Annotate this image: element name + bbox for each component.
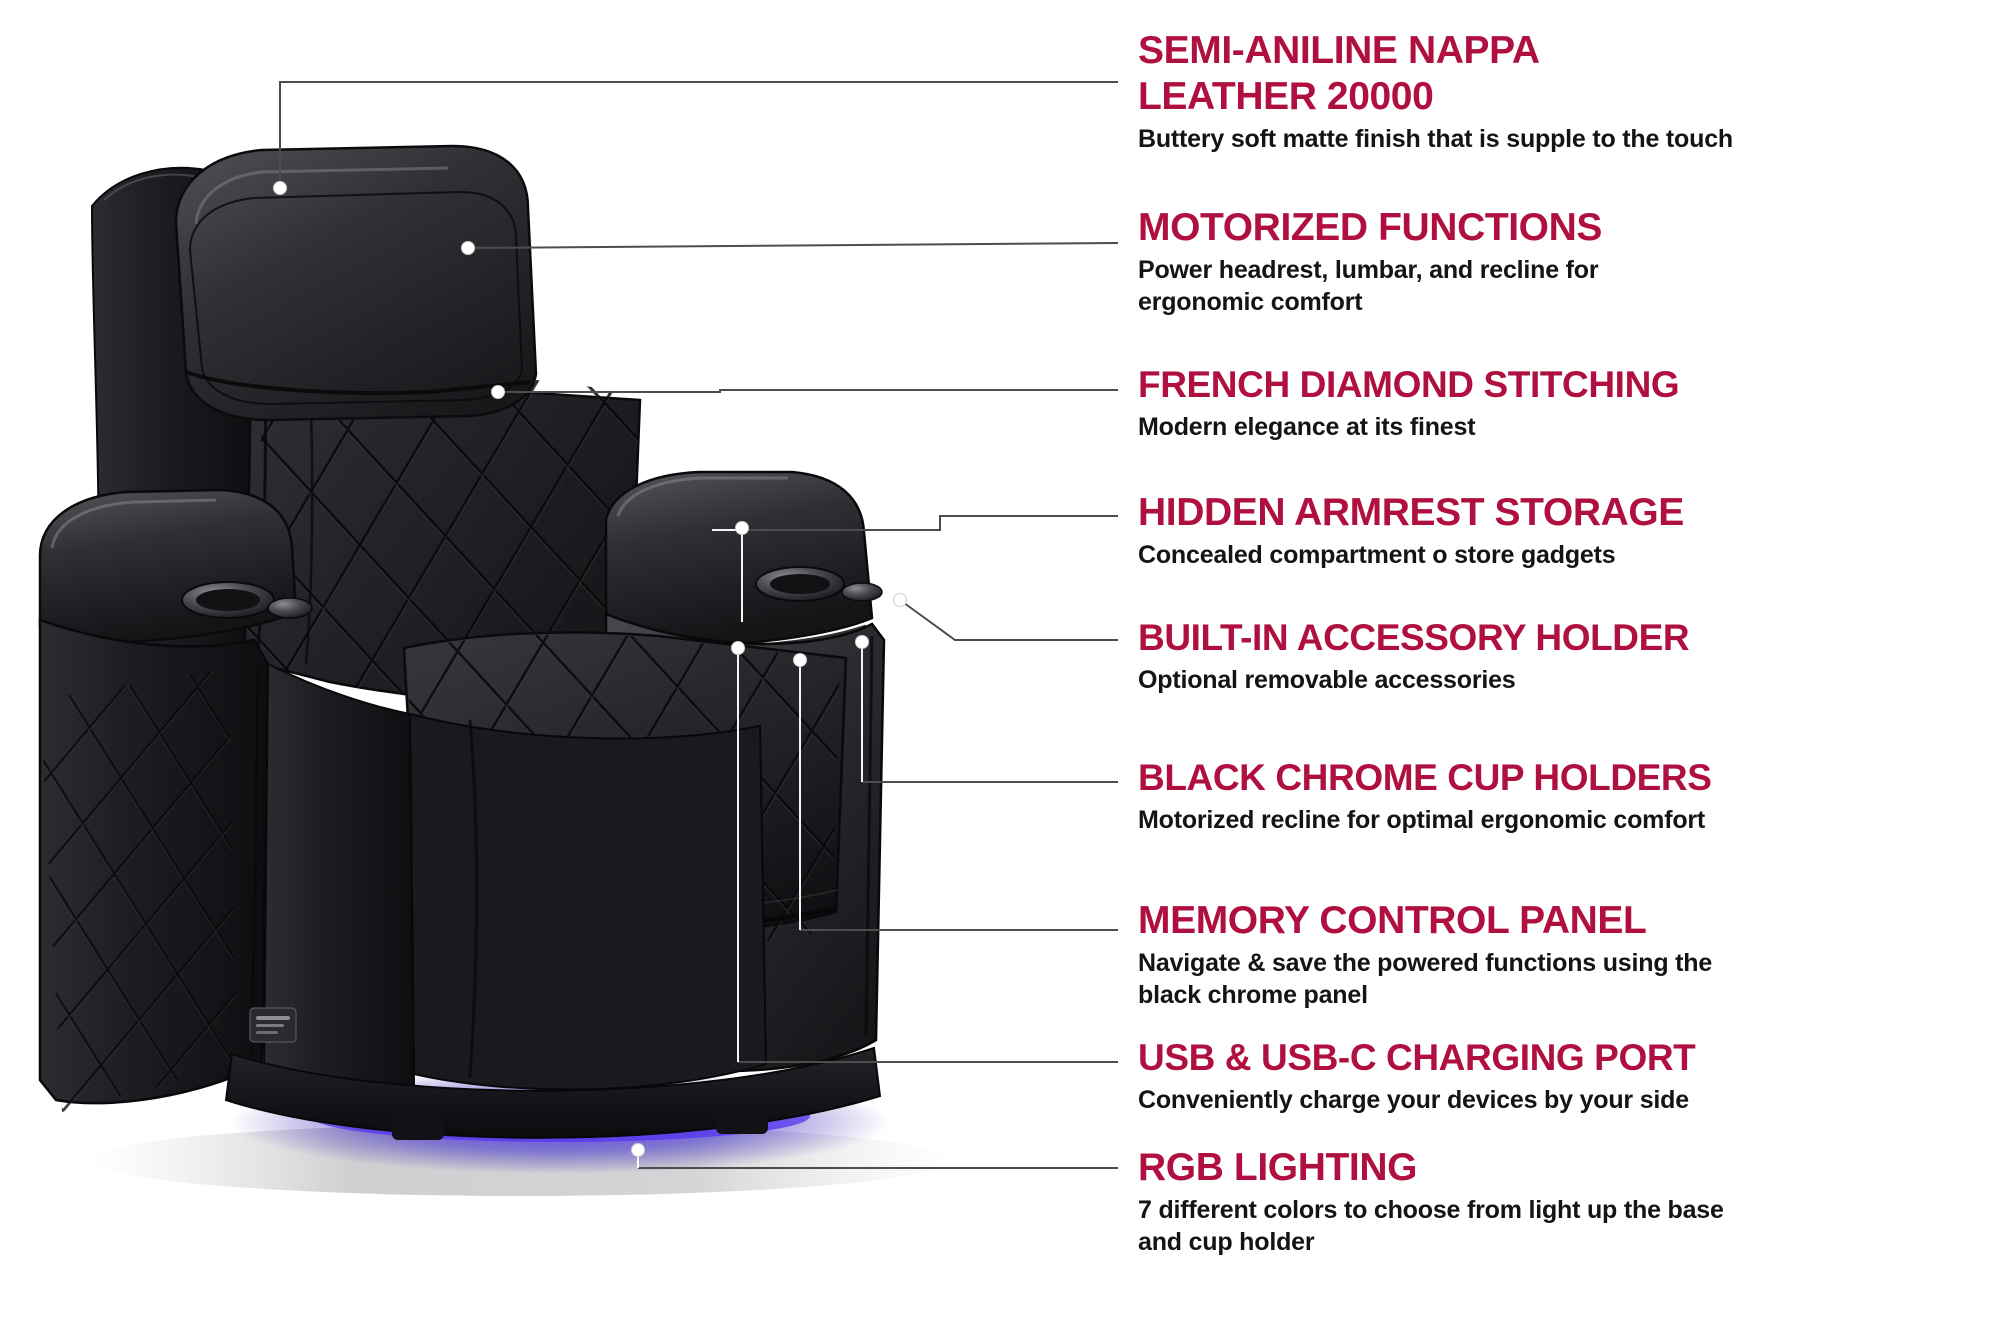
cup-holder-right-well xyxy=(770,574,830,594)
feature-usb-charging-port: USB & USB-C CHARGING PORT Conveniently c… xyxy=(1138,1035,2000,1116)
feature-list: SEMI-ANILINE NAPPA LEATHER 20000 Buttery… xyxy=(1138,0,2000,1334)
power-headrest xyxy=(176,146,536,420)
base-foot-right xyxy=(716,1112,768,1134)
feature-description: Navigate & save the powered functions us… xyxy=(1138,947,2000,1011)
armrest-left-top xyxy=(40,490,296,642)
feature-motorized-functions: MOTORIZED FUNCTIONS Power headrest, lumb… xyxy=(1138,205,2000,318)
feature-title: SEMI-ANILINE NAPPA LEATHER 20000 xyxy=(1138,28,2000,120)
infographic-page: SEMI-ANILINE NAPPA LEATHER 20000 Buttery… xyxy=(0,0,2000,1334)
feature-description: Optional removable accessories xyxy=(1138,664,2000,696)
brand-badge-line-2 xyxy=(256,1024,284,1027)
feature-description: Conveniently charge your devices by your… xyxy=(1138,1084,2000,1116)
feature-description: Modern elegance at its finest xyxy=(1138,411,2000,443)
feature-rgb-lighting: RGB LIGHTING 7 different colors to choos… xyxy=(1138,1145,2000,1258)
brand-badge-line-1 xyxy=(256,1016,290,1020)
feature-description: Buttery soft matte finish that is supple… xyxy=(1138,123,2000,155)
feature-memory-control-panel: MEMORY CONTROL PANEL Navigate & save the… xyxy=(1138,898,2000,1011)
accessory-holder-left xyxy=(268,598,312,618)
feature-french-diamond-stitching: FRENCH DIAMOND STITCHING Modern elegance… xyxy=(1138,362,2000,443)
feature-black-chrome-cup-holders: BLACK CHROME CUP HOLDERS Motorized recli… xyxy=(1138,755,2000,836)
feature-title: HIDDEN ARMREST STORAGE xyxy=(1138,490,2000,536)
feature-description: Motorized recline for optimal ergonomic … xyxy=(1138,804,2000,836)
feature-title: RGB LIGHTING xyxy=(1138,1145,2000,1191)
feature-built-in-accessory-holder: BUILT-IN ACCESSORY HOLDER Optional remov… xyxy=(1138,615,2000,696)
feature-title: MEMORY CONTROL PANEL xyxy=(1138,898,2000,944)
product-image xyxy=(0,0,1120,1334)
armrest-right-top xyxy=(606,472,872,645)
feature-title: USB & USB-C CHARGING PORT xyxy=(1138,1035,2000,1081)
accessory-holder-right xyxy=(842,583,882,601)
cup-holder-left-well xyxy=(196,589,260,611)
feature-title: BUILT-IN ACCESSORY HOLDER xyxy=(1138,615,2000,661)
base-foot-left xyxy=(392,1118,444,1140)
feature-title: FRENCH DIAMOND STITCHING xyxy=(1138,362,2000,408)
feature-title: BLACK CHROME CUP HOLDERS xyxy=(1138,755,2000,801)
front-panel xyxy=(410,714,766,1089)
feature-semi-aniline-nappa-leather: SEMI-ANILINE NAPPA LEATHER 20000 Buttery… xyxy=(1138,28,2000,155)
feature-title: MOTORIZED FUNCTIONS xyxy=(1138,205,2000,251)
brand-badge-line-3 xyxy=(256,1031,278,1034)
feature-description: 7 different colors to choose from light … xyxy=(1138,1194,2000,1258)
feature-hidden-armrest-storage: HIDDEN ARMREST STORAGE Concealed compart… xyxy=(1138,490,2000,571)
recliner-illustration xyxy=(0,0,1120,1334)
feature-description: Concealed compartment o store gadgets xyxy=(1138,539,2000,571)
feature-description: Power headrest, lumbar, and recline for … xyxy=(1138,254,2000,318)
